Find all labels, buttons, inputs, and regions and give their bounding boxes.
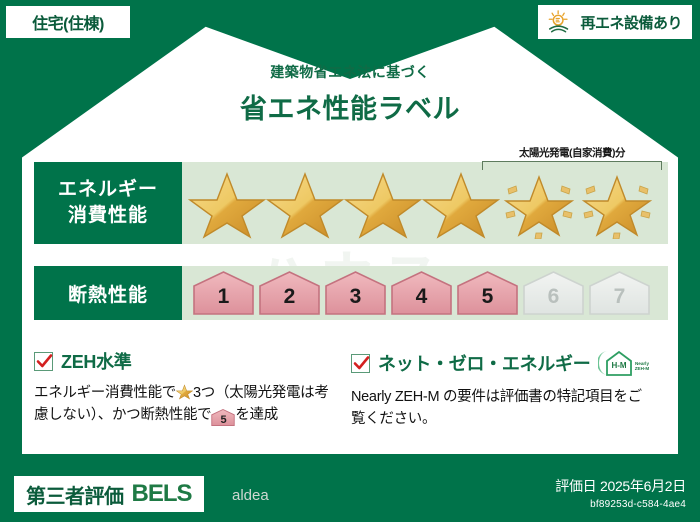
zeh-description: エネルギー消費性能で 3つ（太陽光発電は考慮しない）、かつ断熱性能で 5を達成 — [34, 382, 337, 427]
zeh-checkbox — [34, 352, 53, 371]
third-party-label: 第三者評価 — [26, 480, 124, 509]
evaluation-date: 評価日 2025年6月2日 — [555, 476, 686, 496]
criteria-zeh-column: ZEH水準 エネルギー消費性能で 3つ（太陽光発電は考慮しない）、かつ断熱性能で… — [34, 348, 351, 448]
star-icon-3 — [344, 167, 422, 239]
insulation-level-2: 2 — [258, 270, 321, 316]
insulation-level-4: 4 — [390, 270, 453, 316]
zeh-title: ZEH水準 — [61, 348, 132, 374]
nze-title: ネット・ゼロ・エネルギー — [378, 350, 590, 376]
insulation-level-5-value: 5 — [482, 286, 494, 316]
insulation-level-5: 5 — [456, 270, 519, 316]
zeh-desc-part3: を達成 — [235, 407, 278, 423]
insulation-level-7: 7 — [588, 270, 651, 316]
insulation-level-2-value: 2 — [284, 286, 296, 316]
inline-star-icon — [176, 383, 193, 400]
bels-logo-text: BELS — [132, 480, 192, 508]
insulation-level-1-value: 1 — [218, 286, 230, 316]
solar-annotation: 太陽光発電(自家消費)分 — [482, 145, 662, 170]
check-icon — [36, 353, 53, 370]
nze-checkbox — [351, 354, 370, 373]
star-icon-2 — [266, 167, 344, 239]
insulation-level-6-value: 6 — [548, 286, 560, 316]
energy-stars-container: 太陽光発電(自家消費)分 — [182, 162, 668, 244]
nearly-zeh-m-logo: H-M Nearly ZEH-M — [598, 348, 650, 378]
label-subtitle: 建築物省エネ法に基づく — [0, 62, 700, 82]
brand-watermark: aldea — [232, 487, 269, 504]
star-icon-1 — [188, 167, 266, 239]
svg-text:H-M: H-M — [612, 361, 627, 370]
renewable-badge-label: 再エネ設備あり — [580, 12, 682, 33]
solar-sun-icon — [546, 9, 574, 35]
label-title: 省エネ性能ラベル — [0, 87, 700, 126]
category-tab-label: 住宅(住棟) — [32, 10, 104, 34]
solar-annotation-label: 太陽光発電(自家消費)分 — [482, 145, 662, 160]
star-icon-6-solar — [578, 167, 656, 239]
insulation-label: 断熱性能 — [68, 280, 148, 307]
inline-house-value: 5 — [220, 414, 226, 426]
energy-performance-label: 住宅(住棟) 再エネ設備あり 建築物省エネ法に基づく 省エネ性能ラベル — [0, 0, 700, 522]
category-tab: 住宅(住棟) — [6, 6, 130, 38]
insulation-level-4-value: 4 — [416, 286, 428, 316]
energy-label-line2: 消費性能 — [68, 203, 148, 229]
insulation-performance-row: 断熱性能 1 — [34, 266, 668, 320]
energy-label-line1: エネルギー — [58, 177, 158, 203]
insulation-levels-container: 1 2 3 4 — [182, 266, 668, 320]
star-icon-4 — [422, 167, 500, 239]
svg-text:ZEH-M: ZEH-M — [635, 366, 650, 371]
label-headings: 建築物省エネ法に基づく 省エネ性能ラベル — [0, 62, 700, 126]
insulation-level-6: 6 — [522, 270, 585, 316]
energy-row-label: エネルギー 消費性能 — [34, 162, 182, 244]
check-icon — [353, 355, 370, 372]
evaluation-id: bf89253d-c584-4ae4 — [555, 499, 686, 510]
energy-performance-row: エネルギー 消費性能 太陽光発電(自家消費)分 — [34, 162, 668, 244]
criteria-nze-column: ネット・ゼロ・エネルギー H-M Nearly ZEH-M Nearly ZEH… — [351, 348, 668, 448]
zeh-desc-part1: エネルギー消費性能で — [34, 385, 176, 401]
third-party-evaluation-box: 第三者評価 BELS — [14, 476, 204, 512]
insulation-level-1: 1 — [192, 270, 255, 316]
star-icon-5-solar — [500, 167, 578, 239]
criteria-zeh-header: ZEH水準 — [34, 348, 337, 374]
inline-house-badge: 5 — [211, 408, 235, 426]
solar-bracket-icon — [482, 161, 662, 170]
nze-description: Nearly ZEH-M の要件は評価書の特記項目をご覧ください。 — [351, 386, 654, 431]
footer-meta: 評価日 2025年6月2日 bf89253d-c584-4ae4 — [555, 476, 686, 510]
criteria-nze-header: ネット・ゼロ・エネルギー H-M Nearly ZEH-M — [351, 348, 654, 378]
insulation-level-7-value: 7 — [614, 286, 626, 316]
insulation-row-label: 断熱性能 — [34, 266, 182, 320]
insulation-level-3-value: 3 — [350, 286, 362, 316]
criteria-section: ZEH水準 エネルギー消費性能で 3つ（太陽光発電は考慮しない）、かつ断熱性能で… — [34, 348, 668, 448]
insulation-level-3: 3 — [324, 270, 387, 316]
renewable-energy-badge: 再エネ設備あり — [538, 5, 692, 39]
